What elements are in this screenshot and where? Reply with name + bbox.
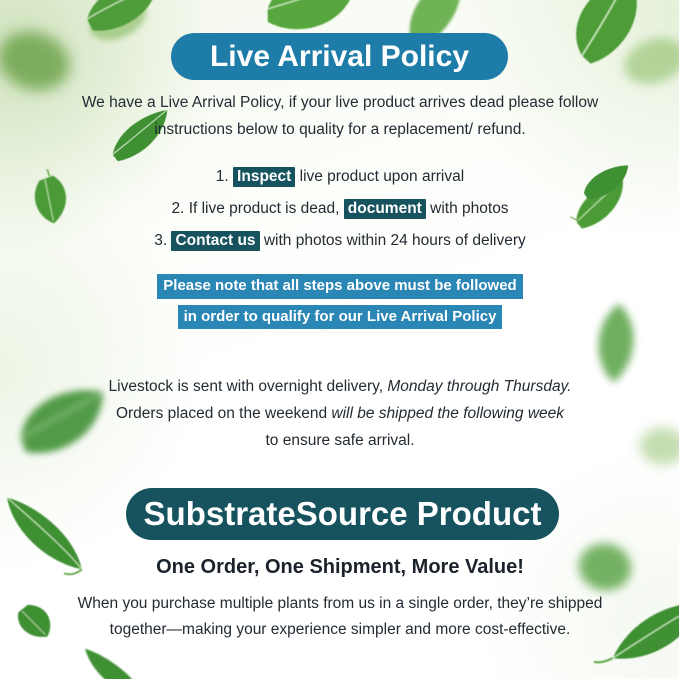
policy-notice: Please note that all steps above must be… (60, 274, 620, 335)
notice-line-2: in order to qualify for our Live Arrival… (178, 305, 503, 330)
notice-row: Please note that all steps above must be… (60, 274, 620, 299)
step-highlight: Inspect (233, 167, 295, 187)
substratesource-product-banner: SubstrateSource Product (126, 488, 559, 540)
notice-row: in order to qualify for our Live Arrival… (60, 305, 620, 330)
intro-line-2: instructions below to quality for a repl… (60, 116, 620, 143)
steps-list: 1. Inspect live product upon arrival 2. … (60, 164, 620, 260)
banner-title: Live Arrival Policy (171, 33, 508, 80)
value-prop-headline: One Order, One Shipment, More Value! (60, 556, 620, 579)
value-prop-paragraph: When you purchase multiple plants from u… (60, 591, 620, 644)
step-highlight: document (344, 199, 426, 219)
value-prop-line-1: When you purchase multiple plants from u… (60, 591, 620, 617)
step-highlight: Contact us (171, 231, 259, 251)
intro-line-1: We have a Live Arrival Policy, if your l… (60, 89, 620, 116)
step-number: 2. (171, 200, 184, 217)
list-item: 2. If live product is dead, document wit… (60, 196, 620, 221)
value-prop-line-2: together—making your experience simpler … (60, 617, 620, 643)
livestock-line-3: to ensure safe arrival. (60, 427, 620, 454)
poster-canvas: Live Arrival Policy We have a Live Arriv… (0, 0, 679, 679)
livestock-line-1: Livestock is sent with overnight deliver… (60, 373, 620, 400)
livestock-line-1-emphasis: Monday through Thursday. (387, 378, 571, 395)
step-text-after: live product upon arrival (295, 168, 464, 185)
step-text-after: with photos within 24 hours of delivery (260, 232, 526, 249)
live-arrival-policy-banner: Live Arrival Policy (171, 33, 508, 80)
livestock-line-2: Orders placed on the weekend will be shi… (60, 400, 620, 427)
livestock-paragraph: Livestock is sent with overnight deliver… (60, 373, 620, 454)
step-text-after: with photos (426, 200, 509, 217)
step-text-before: If live product is dead, (189, 200, 344, 217)
notice-line-1: Please note that all steps above must be… (157, 274, 522, 299)
livestock-line-2-text: Orders placed on the weekend (116, 405, 331, 422)
banner-title: SubstrateSource Product (126, 488, 559, 540)
intro-paragraph: We have a Live Arrival Policy, if your l… (60, 89, 620, 143)
list-item: 3. Contact us with photos within 24 hour… (60, 228, 620, 253)
livestock-line-2-emphasis: will be shipped the following week (331, 405, 564, 422)
livestock-line-1-text: Livestock is sent with overnight deliver… (109, 378, 388, 395)
list-item: 1. Inspect live product upon arrival (60, 164, 620, 189)
step-number: 1. (216, 168, 229, 185)
step-number: 3. (154, 232, 167, 249)
